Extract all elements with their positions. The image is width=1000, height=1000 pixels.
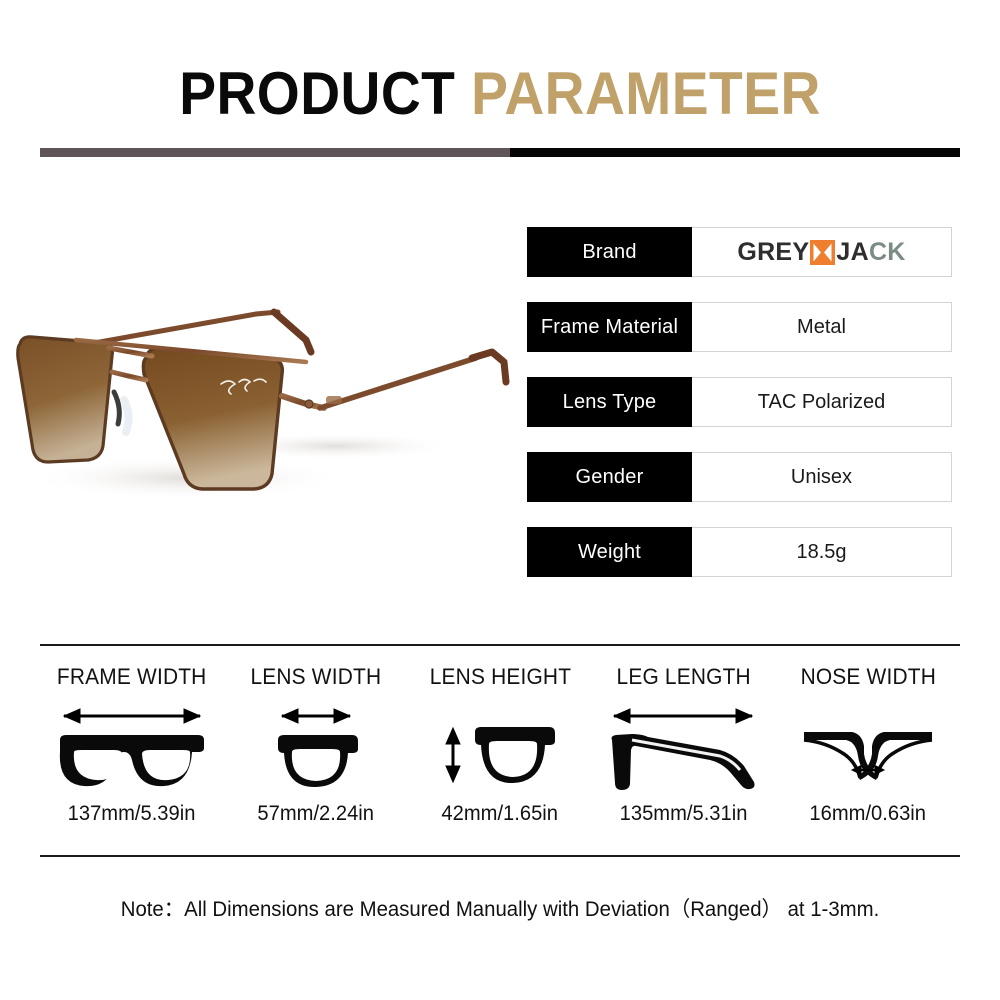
divider-segment-grey [40, 148, 510, 157]
lens-height-icon [435, 702, 565, 794]
spec-value-brand: GREY JACK [692, 227, 952, 277]
spec-value-weight: 18.5g [692, 527, 952, 577]
brand-logo: GREY JACK [737, 238, 905, 267]
spec-key-weight: Weight [527, 527, 692, 577]
spec-value-lens-type: TAC Polarized [692, 377, 952, 427]
spec-key-frame-material: Frame Material [527, 302, 692, 352]
divider-segment-black [510, 148, 960, 157]
spec-key-gender: Gender [527, 452, 692, 502]
footer-note: Note：All Dimensions are Measured Manuall… [15, 893, 985, 923]
measurement-value: 137mm/5.39in [68, 802, 196, 826]
table-row-brand: Brand GREY JACK [527, 227, 952, 277]
measurement-value: 42mm/1.65in [442, 802, 559, 826]
spec-key-lens-type: Lens Type [527, 377, 692, 427]
title-divider [40, 148, 960, 157]
measurement-value: 57mm/2.24in [258, 802, 375, 826]
measurements-band: FRAME WIDTH 137mm/5.39in LENS WIDTH [40, 664, 960, 844]
spec-table: Brand GREY JACK Frame Material Metal Len… [527, 227, 952, 577]
title-primary: PRODUCT [179, 60, 455, 127]
measurement-lens-width: LENS WIDTH 57mm/2.24in [224, 664, 408, 844]
table-row-lens-type: Lens Type TAC Polarized [527, 377, 952, 427]
frame-width-icon [52, 702, 212, 794]
measurement-label: LENS WIDTH [251, 664, 382, 690]
measurement-label: LENS HEIGHT [429, 664, 570, 690]
brand-logo-part2: JA [836, 238, 869, 267]
brand-logo-part3: CK [869, 238, 906, 267]
lens-width-icon [256, 702, 376, 794]
divider-below-measurements [40, 855, 960, 857]
table-row-gender: Gender Unisex [527, 452, 952, 502]
measurement-nose-width: NOSE WIDTH 16mm/0.63in [776, 664, 960, 844]
measurement-frame-width: FRAME WIDTH 137mm/5.39in [40, 664, 224, 844]
measurement-value: 16mm/0.63in [810, 802, 927, 826]
measurement-label: NOSE WIDTH [800, 664, 935, 690]
title-secondary: PARAMETER [471, 60, 821, 127]
spec-key-brand: Brand [527, 227, 692, 277]
measurement-label: FRAME WIDTH [57, 664, 207, 690]
table-row-weight: Weight 18.5g [527, 527, 952, 577]
page-title: PRODUCT PARAMETER [0, 62, 1000, 126]
brand-bowtie-icon [810, 240, 835, 265]
product-parameter-page: PRODUCT PARAMETER [0, 0, 1000, 1000]
product-image [6, 296, 516, 516]
leg-length-icon [602, 702, 767, 794]
spec-value-gender: Unisex [692, 452, 952, 502]
divider-above-measurements [40, 644, 960, 646]
nose-width-icon [798, 702, 938, 794]
measurement-label: LEG LENGTH [617, 664, 751, 690]
brand-logo-part1: GREY [737, 238, 809, 267]
measurement-lens-height: LENS HEIGHT 42mm/1.65in [408, 664, 592, 844]
measurement-leg-length: LEG LENGTH 135mm/5.31in [592, 664, 776, 844]
spec-value-frame-material: Metal [692, 302, 952, 352]
table-row-frame-material: Frame Material Metal [527, 302, 952, 352]
measurement-value: 135mm/5.31in [620, 802, 748, 826]
